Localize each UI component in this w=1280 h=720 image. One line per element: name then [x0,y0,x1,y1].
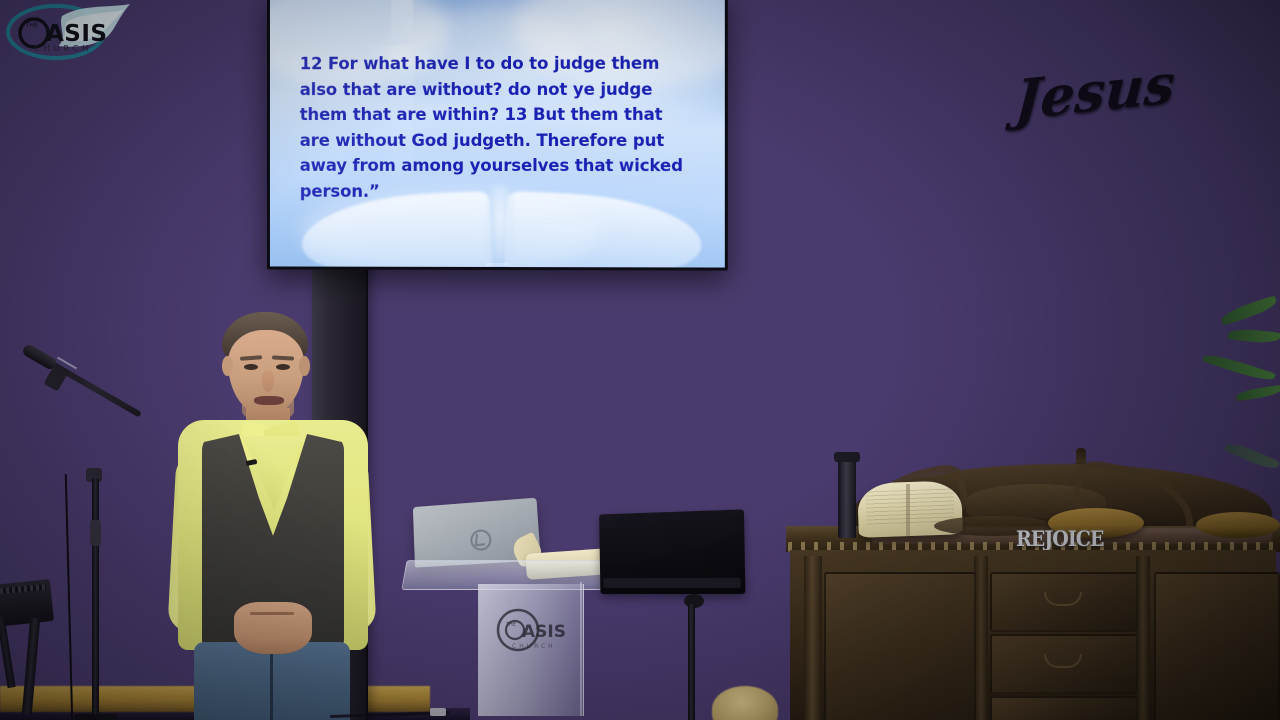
wooden-bowl [1196,512,1280,538]
svg-text:ASIS: ASIS [522,622,566,642]
cabinet-column [974,556,988,720]
rejoice-decor-letters: REJOICE [1016,526,1103,551]
floor-outlet-plug [430,708,446,716]
speaker-eye-right [276,364,290,370]
jeans-seam [270,650,273,720]
mic-stand-height-collar[interactable] [90,520,101,546]
microphone-cable [65,474,73,720]
wall-mounted-tv: 12 For what have I to do to judge them a… [267,0,728,271]
livestream-frame: 12 For what have I to do to judge them a… [0,0,1280,720]
speaker-eye-left [244,364,258,370]
cabinet-door-right[interactable] [1154,572,1280,720]
music-stand-pole [688,604,695,720]
cabinet-drawer-bottom[interactable] [990,696,1138,720]
mic-stand-pole [92,478,99,720]
speaker [150,312,400,720]
cabinet-door-left[interactable] [824,572,976,720]
jesus-wall-art: Jesus [1012,39,1187,144]
speaker-nose [262,370,274,392]
speaker-ear-left [222,356,233,376]
slide-scripture-text: 12 For what have I to do to judge them a… [300,51,695,205]
antique-sideboard: REJOICE [786,450,1280,720]
cabinet-column [804,556,822,720]
music-stand-lip [603,578,740,588]
candle-holder-top [834,452,860,462]
speaker-mouth [254,396,284,405]
cabinet-column [1136,556,1150,720]
candle-holder [838,456,856,538]
podium-edge-highlight [580,582,582,716]
mic-stand-base [74,714,118,720]
hp-logo-icon [469,528,492,551]
bible-spine [906,484,910,536]
svg-text:THE: THE [505,622,516,628]
tv-brand-mark [486,263,508,266]
speaker-clasped-hands [234,602,312,654]
svg-text:CHURCH: CHURCH [512,643,556,650]
slide-screen: 12 For what have I to do to judge them a… [270,0,725,268]
podium-oasis-church-logo: THE ASIS CHURCH [492,606,570,658]
speaker-ear-right [299,356,310,376]
hand-crease [250,612,294,615]
